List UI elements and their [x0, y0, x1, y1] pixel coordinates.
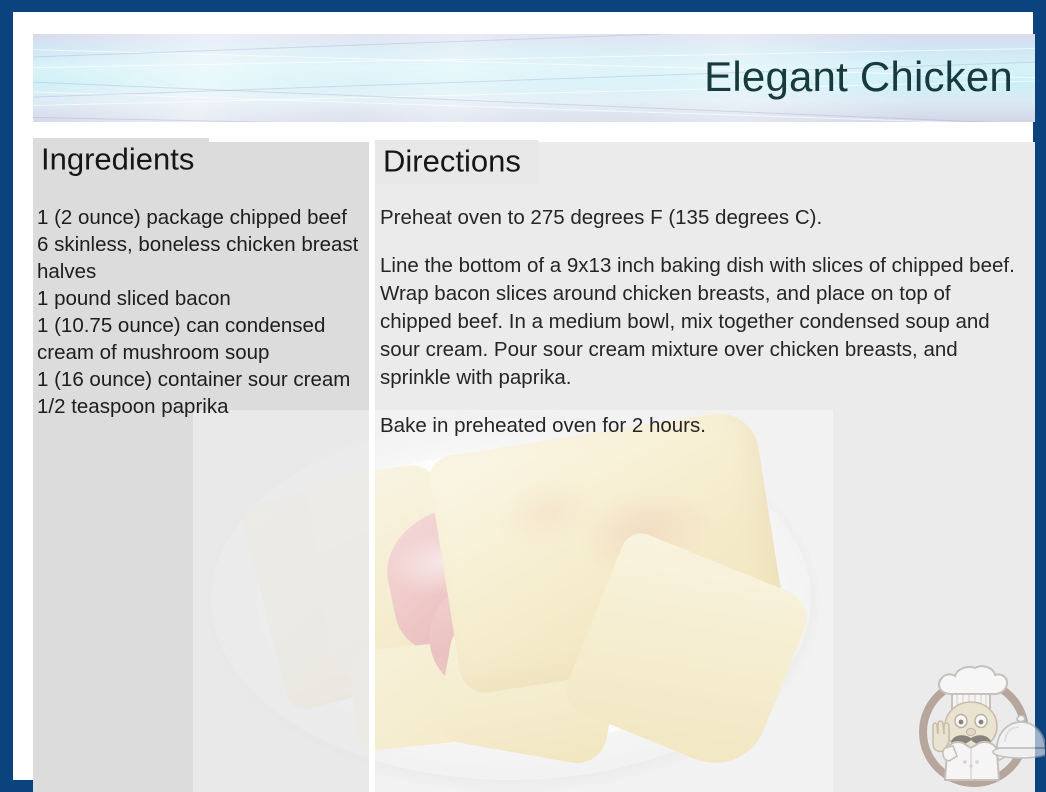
ingredients-heading: Ingredients: [41, 141, 194, 177]
directions-heading: Directions: [383, 143, 521, 179]
ingredients-list: 1 (2 ounce) package chipped beef 6 skinl…: [37, 204, 373, 420]
recipe-card: Elegant Chicken Ingredients D: [0, 0, 1046, 792]
title-banner: Elegant Chicken: [33, 34, 1035, 122]
chef-logo: [911, 648, 1045, 788]
page-title: Elegant Chicken: [704, 53, 1013, 101]
direction-step: Bake in preheated oven for 2 hours.: [380, 412, 1025, 440]
card-inner: Elegant Chicken Ingredients D: [13, 12, 1033, 780]
directions-heading-tab: Directions: [375, 140, 539, 184]
ingredients-heading-tab: Ingredients: [33, 138, 209, 182]
directions-list: Preheat oven to 275 degrees F (135 degre…: [380, 204, 1025, 440]
direction-step: Preheat oven to 275 degrees F (135 degre…: [380, 204, 1025, 232]
cloche-platter-icon: [993, 716, 1045, 759]
direction-step: Line the bottom of a 9x13 inch baking di…: [380, 252, 1025, 392]
